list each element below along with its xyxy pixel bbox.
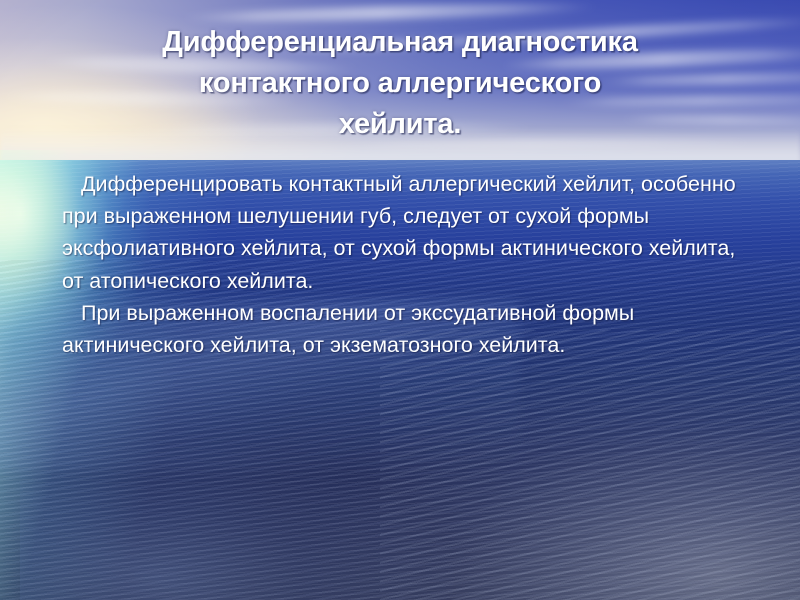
slide-content: Дифференциальная диагностика контактного…	[0, 0, 800, 600]
slide-title-line-3: хейлита.	[60, 104, 740, 145]
slide-title: Дифференциальная диагностика контактного…	[60, 22, 740, 145]
slide-paragraph-2: При выраженном воспалении от экссудативн…	[62, 297, 762, 361]
slide-title-line-2: контактного аллергического	[60, 63, 740, 104]
presentation-slide: Дифференциальная диагностика контактного…	[0, 0, 800, 600]
slide-paragraph-1: Дифференцировать контактный аллергически…	[62, 168, 762, 297]
slide-body: Дифференцировать контактный аллергически…	[62, 168, 762, 361]
slide-title-line-1: Дифференциальная диагностика	[60, 22, 740, 63]
